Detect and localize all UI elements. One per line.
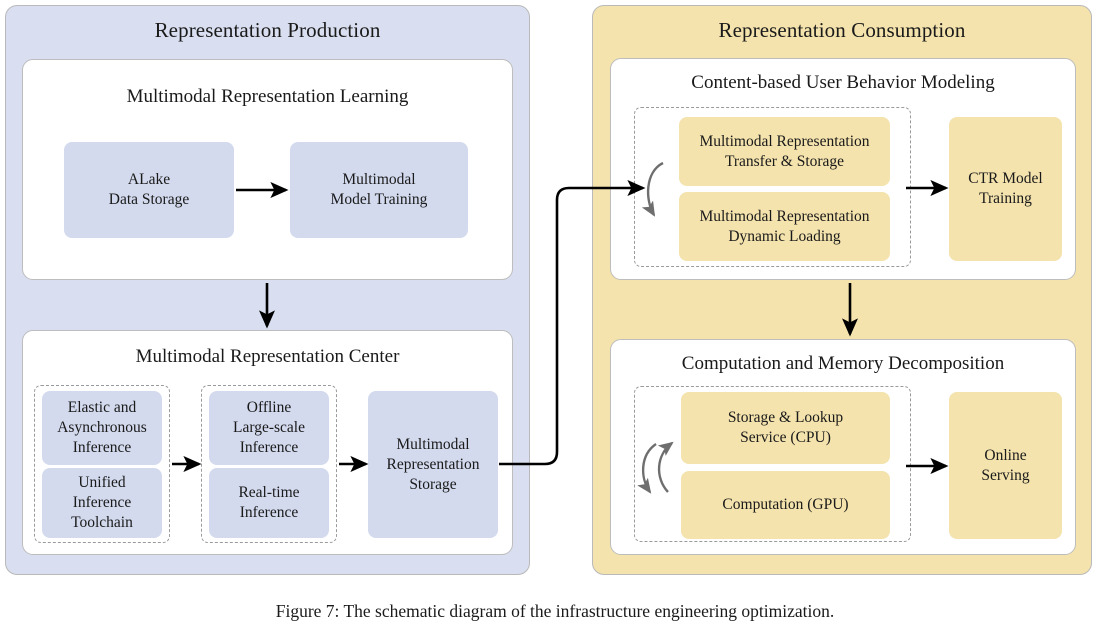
node-offline-large-scale-inference[interactable]: Offline Large-scale Inference	[209, 391, 329, 465]
node-ctr-model-training[interactable]: CTR Model Training	[949, 117, 1062, 261]
node-multimodal-model-training[interactable]: Multimodal Model Training	[290, 142, 468, 238]
panel-title-representation-production: Representation Production	[5, 17, 530, 43]
node-storage-lookup-service-cpu[interactable]: Storage & Lookup Service (CPU)	[681, 392, 890, 464]
card-title-multimodal-representation-learning: Multimodal Representation Learning	[22, 85, 513, 109]
figure-diagram: Representation Production Multimodal Rep…	[0, 0, 1110, 632]
panel-title-representation-consumption: Representation Consumption	[592, 17, 1092, 43]
node-unified-inference-toolchain[interactable]: Unified Inference Toolchain	[42, 468, 162, 538]
card-title-content-based-user-behavior-modeling: Content-based User Behavior Modeling	[610, 71, 1076, 95]
node-elastic-asynchronous-inference[interactable]: Elastic and Asynchronous Inference	[42, 391, 162, 465]
node-multimodal-representation-transfer-storage[interactable]: Multimodal Representation Transfer & Sto…	[679, 117, 890, 186]
node-computation-gpu[interactable]: Computation (GPU)	[681, 471, 890, 539]
card-title-multimodal-representation-center: Multimodal Representation Center	[22, 345, 513, 369]
node-real-time-inference[interactable]: Real-time Inference	[209, 468, 329, 538]
figure-caption: Figure 7: The schematic diagram of the i…	[0, 600, 1110, 622]
card-title-computation-and-memory-decomposition: Computation and Memory Decomposition	[610, 352, 1076, 376]
node-online-serving[interactable]: Online Serving	[949, 392, 1062, 539]
node-alake-data-storage[interactable]: ALake Data Storage	[64, 142, 234, 238]
node-multimodal-representation-storage[interactable]: Multimodal Representation Storage	[368, 391, 498, 538]
node-multimodal-representation-dynamic-loading[interactable]: Multimodal Representation Dynamic Loadin…	[679, 192, 890, 261]
